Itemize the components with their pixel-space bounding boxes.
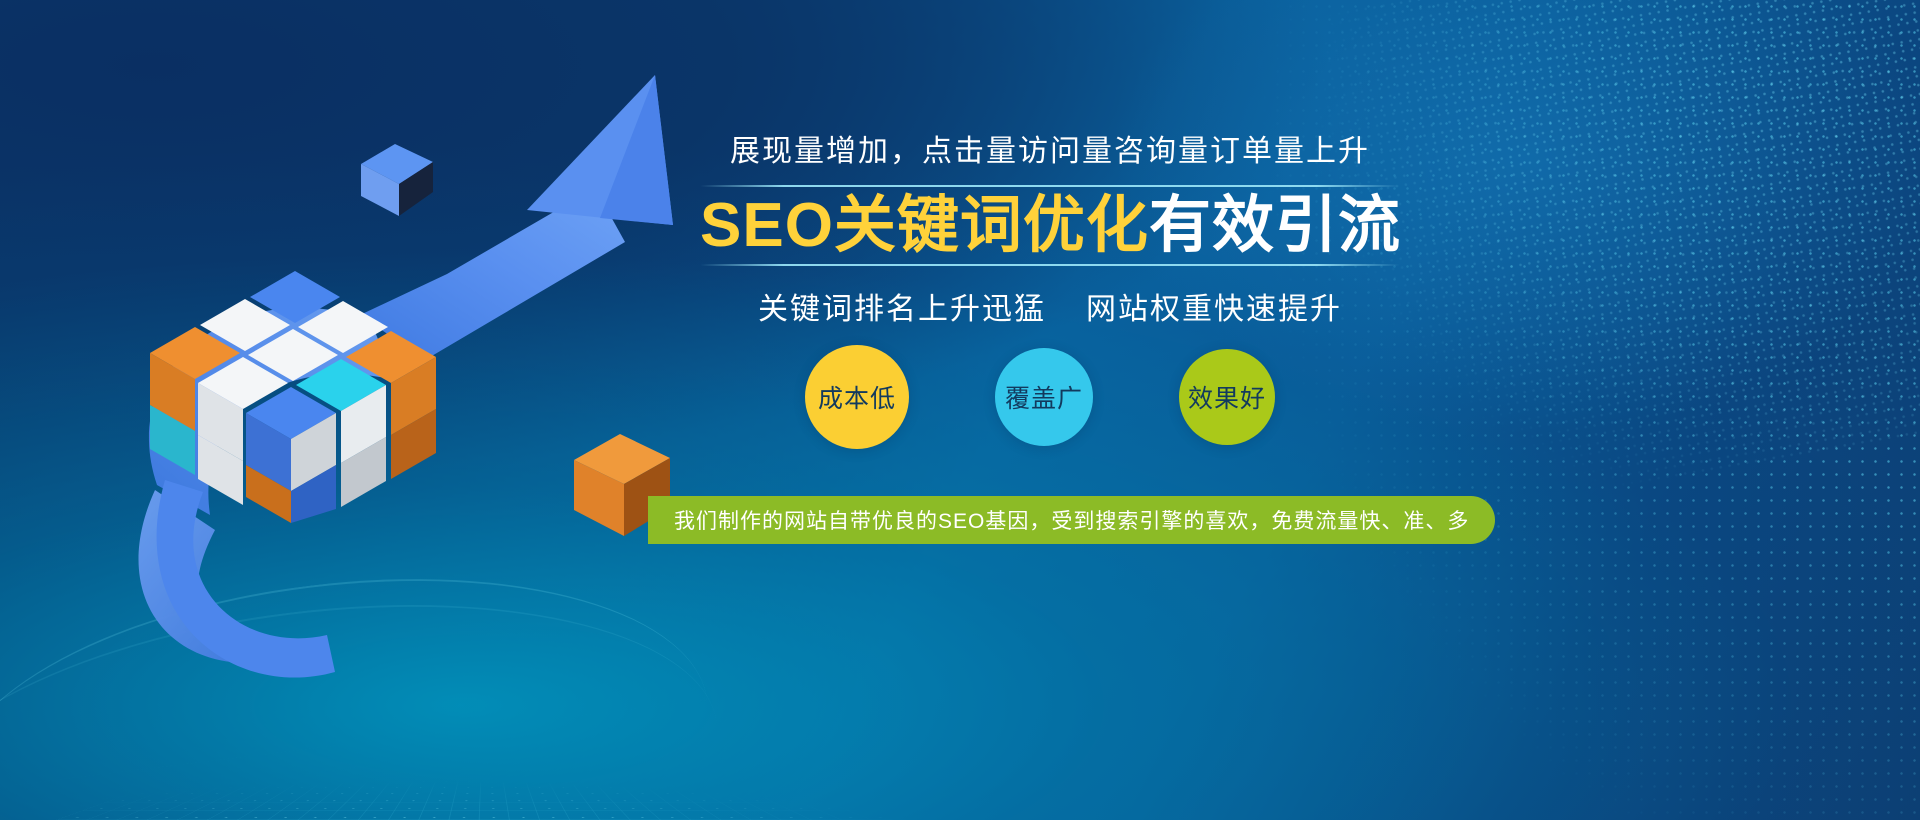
rubiks-cube-icon (120, 235, 450, 525)
headline-highlight: SEO关键词优化 (700, 191, 1149, 260)
divider-top (700, 185, 1400, 187)
subline-left: 关键词排名上升迅猛 (758, 293, 1046, 326)
divider-bottom (700, 264, 1400, 266)
footer-banner-strip: 我们制作的网站自带优良的SEO基因，受到搜索引擎的喜欢，免费流量快、准、多 (648, 496, 1495, 544)
badge-effect-good[interactable]: 效果好 (1179, 349, 1275, 445)
subline-text: 关键词排名上升迅猛网站权重快速提升 (700, 284, 1400, 328)
badge-cost-low[interactable]: 成本低 (805, 345, 909, 449)
kicker-text: 展现量增加，点击量访问量咨询量订单量上升 (700, 132, 1400, 171)
subline-right: 网站权重快速提升 (1086, 293, 1342, 326)
headline-rest: 有效引流 (1149, 191, 1401, 260)
feature-badge-group: 成本低 覆盖广 效果好 (805, 345, 1275, 449)
floating-cube-icon (355, 130, 445, 225)
seo-promo-banner: 展现量增加，点击量访问量咨询量订单量上升 SEO关键词优化有效引流 关键词排名上… (0, 0, 1920, 820)
headline-copy-block: 展现量增加，点击量访问量咨询量订单量上升 SEO关键词优化有效引流 关键词排名上… (700, 132, 1400, 328)
badge-coverage-wide[interactable]: 覆盖广 (995, 348, 1093, 446)
page-title: SEO关键词优化有效引流 (700, 193, 1400, 260)
